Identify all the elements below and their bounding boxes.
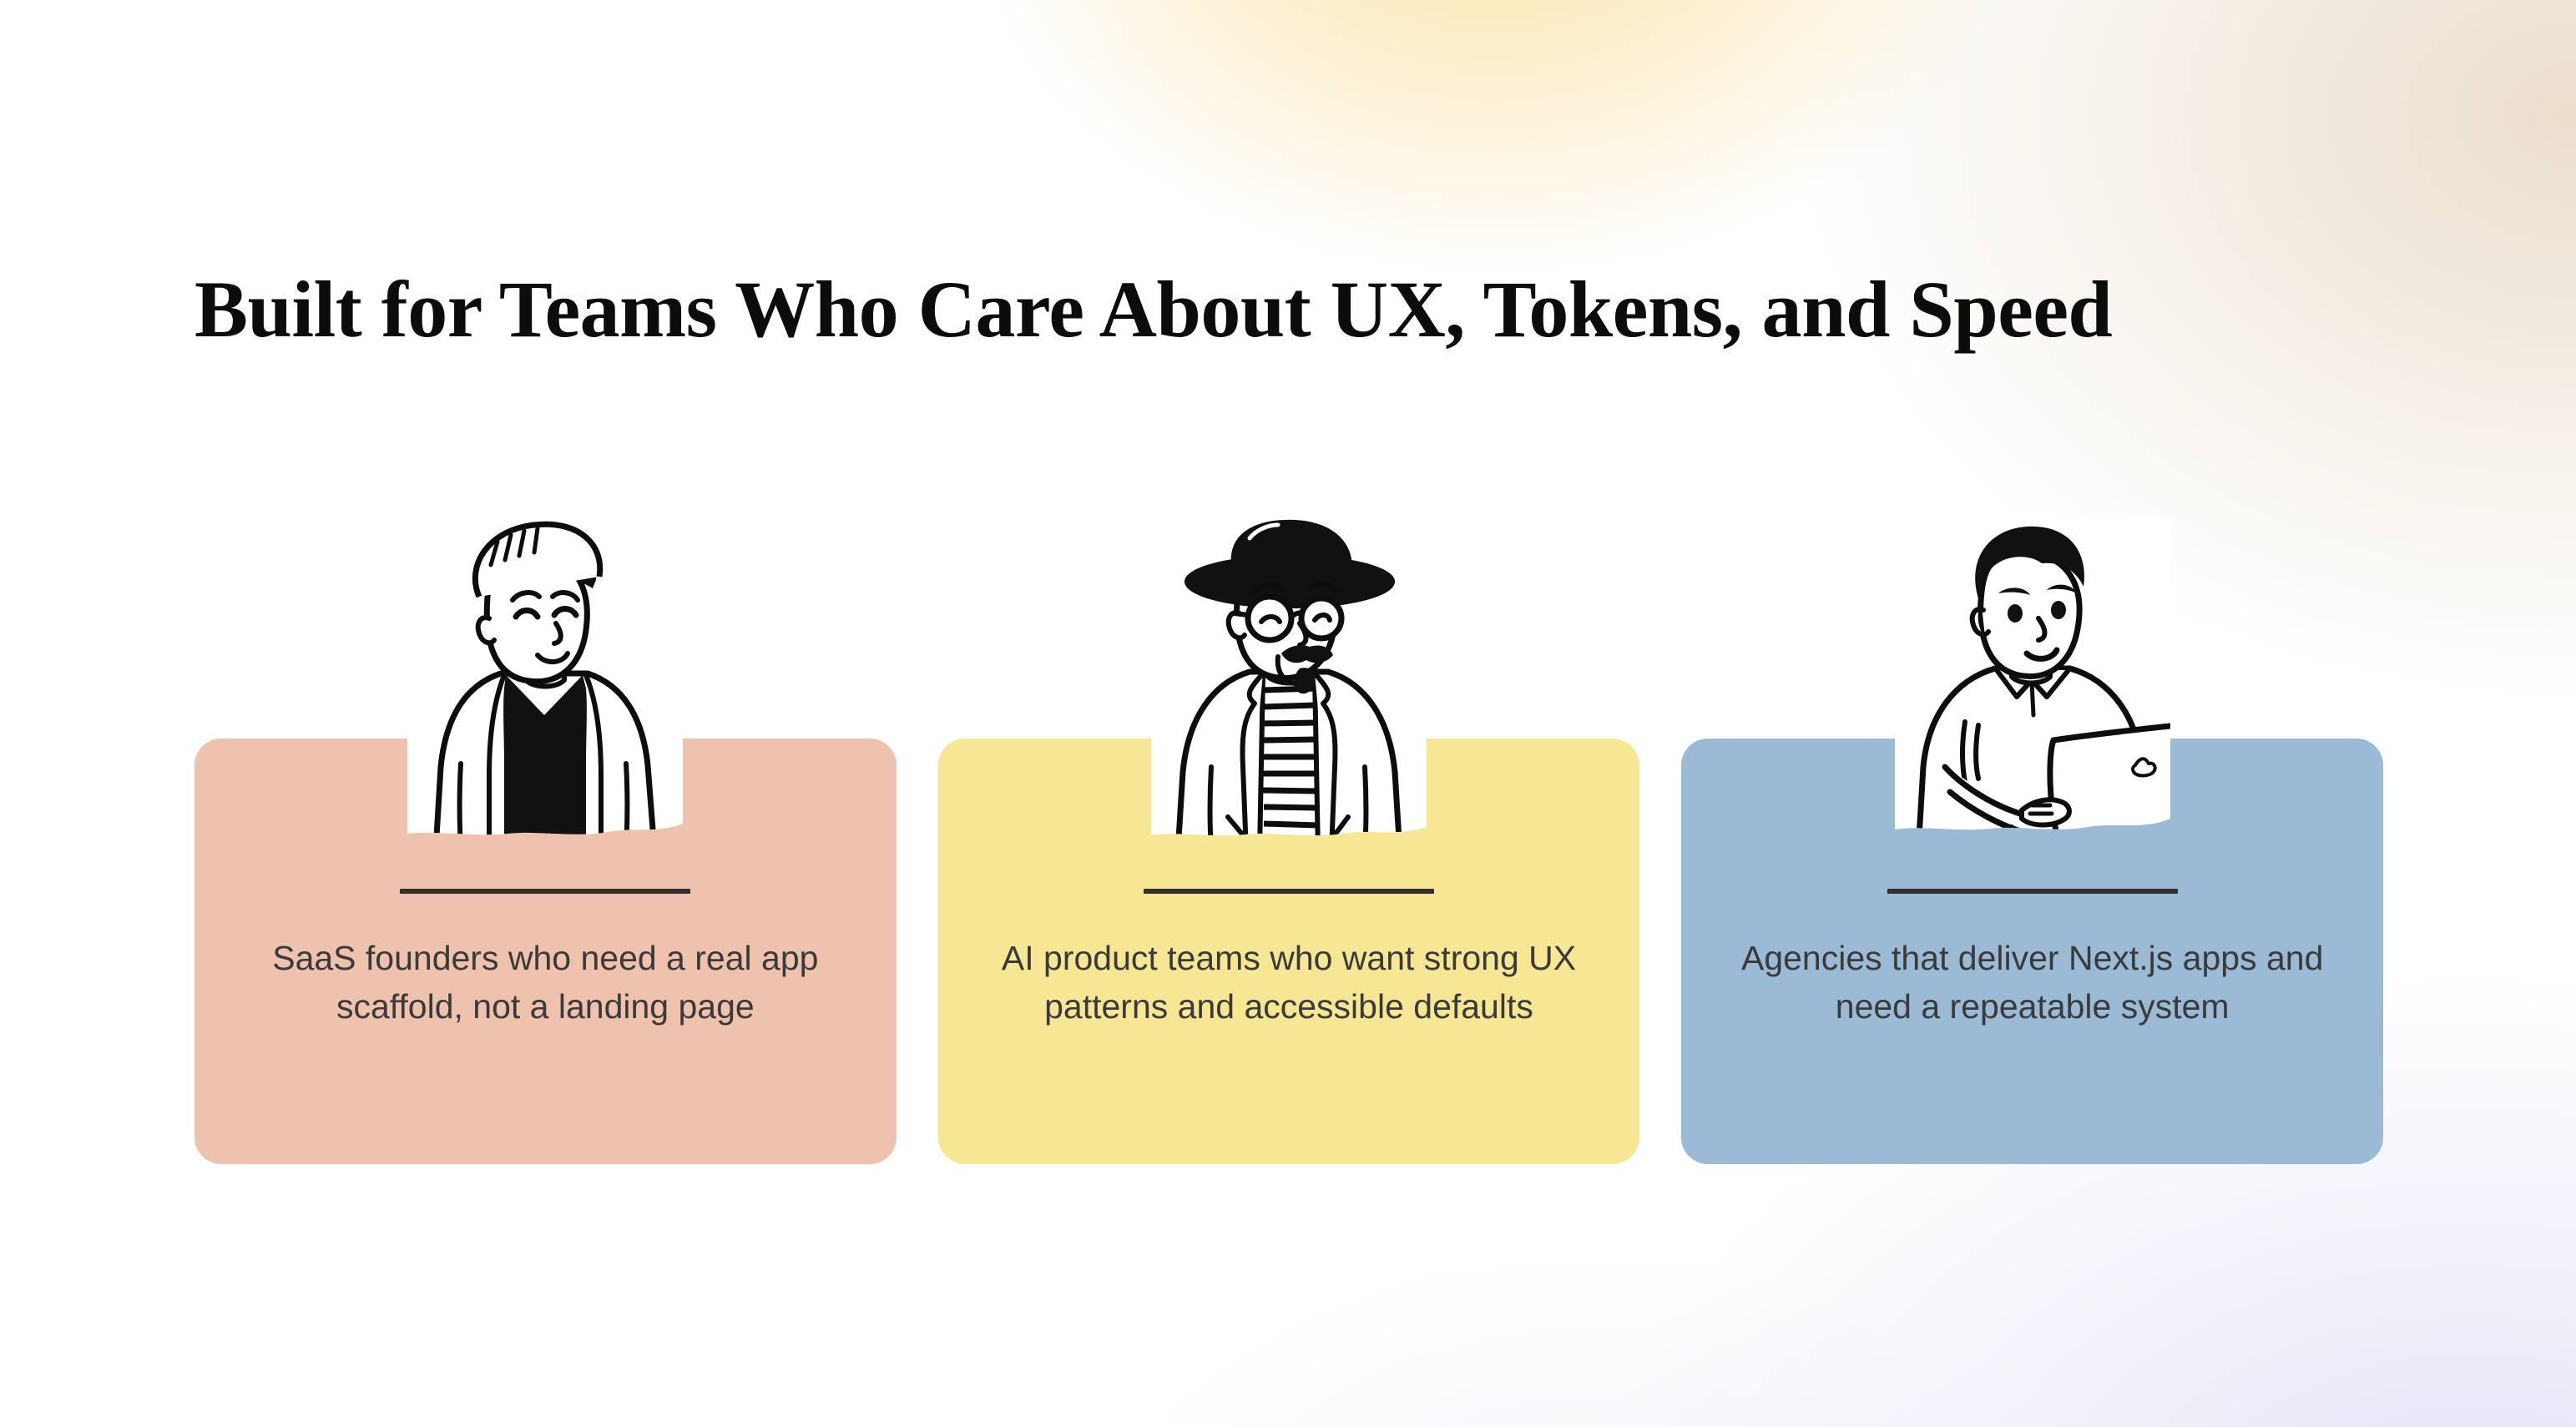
background-white-fade: [0, 0, 1185, 1427]
card-divider: [1144, 889, 1434, 894]
card-ai-product-teams[interactable]: AI product teams who want strong UX patt…: [938, 739, 1640, 1164]
card-agencies[interactable]: Agencies that deliver Next.js apps and n…: [1681, 739, 2383, 1164]
cards-row: SaaS founders who need a real app scaffo…: [194, 739, 2383, 1164]
card-divider: [400, 889, 690, 894]
card-text: Agencies that deliver Next.js apps and n…: [1730, 934, 2334, 1031]
card-divider: [1887, 889, 2178, 894]
card-saas-founders[interactable]: SaaS founders who need a real app scaffo…: [194, 739, 897, 1164]
page-title: Built for Teams Who Care About UX, Token…: [194, 265, 2112, 354]
card-text: AI product teams who want strong UX patt…: [987, 934, 1591, 1031]
card-text: SaaS founders who need a real app scaffo…: [244, 934, 847, 1031]
